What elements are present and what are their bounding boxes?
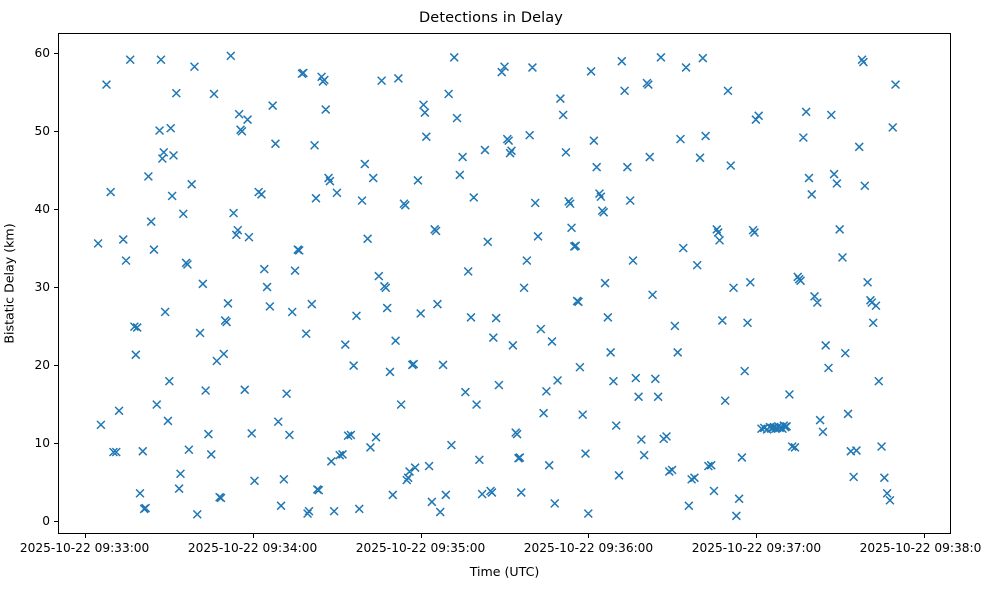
x-tick-label: 2025-10-22 09:34:00	[188, 541, 317, 555]
x-tick-label: 2025-10-22 09:38:00	[860, 541, 982, 555]
x-tick-label: 2025-10-22 09:33:00	[20, 541, 149, 555]
x-axis-label: Time (UTC)	[58, 564, 951, 579]
y-tick-label: 30	[0, 280, 50, 294]
y-tick-label: 40	[0, 202, 50, 216]
scatter-markers	[94, 52, 899, 520]
y-tick-label: 20	[0, 358, 50, 372]
x-tick-mark	[924, 534, 925, 538]
x-tick-mark	[421, 534, 422, 538]
scatter-series	[94, 52, 899, 520]
plot-area	[58, 33, 951, 534]
x-tick-label: 2025-10-22 09:37:00	[692, 541, 821, 555]
y-tick-label: 10	[0, 436, 50, 450]
x-tick-mark	[588, 534, 589, 538]
page-title: Detections in Delay	[0, 10, 982, 26]
y-tick-label: 0	[0, 514, 50, 528]
x-tick-mark	[85, 534, 86, 538]
y-tick-label: 60	[0, 46, 50, 60]
y-tick-label: 50	[0, 124, 50, 138]
x-tick-label: 2025-10-22 09:35:00	[356, 541, 485, 555]
matplotlib-figure: Detections in Delay Bistatic Delay (km) …	[0, 0, 982, 590]
x-tick-mark	[756, 534, 757, 538]
x-tick-mark	[253, 534, 254, 538]
scatter-canvas	[59, 34, 950, 533]
x-tick-label: 2025-10-22 09:36:00	[524, 541, 653, 555]
